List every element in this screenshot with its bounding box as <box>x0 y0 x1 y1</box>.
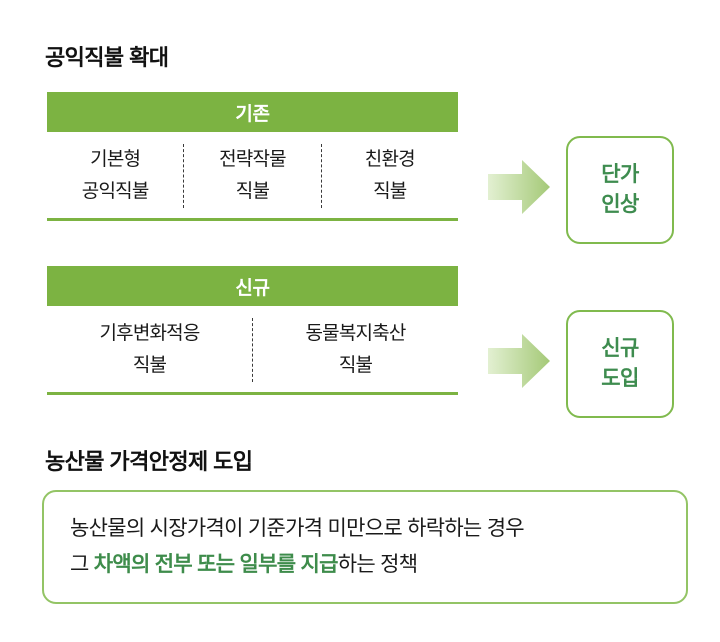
right-arrow-icon <box>488 158 550 216</box>
callout-line-2-pre: 그 <box>70 553 94 576</box>
right-arrow-icon <box>488 332 550 390</box>
group-existing-column-1: 기본형 공익직불 <box>47 144 183 208</box>
badge-line-1: 단가 <box>601 160 638 190</box>
callout-box: 농산물의 시장가격이 기준가격 미만으로 하락하는 경우 그 차액의 전부 또는… <box>42 490 688 604</box>
page-title-top: 공익직불 확대 <box>45 40 168 72</box>
callout-line-1: 농산물의 시장가격이 기준가격 미만으로 하락하는 경우 <box>70 511 686 547</box>
column-line-1: 친환경 <box>365 144 415 176</box>
group-existing-header: 기존 <box>47 92 458 132</box>
column-line-2: 직불 <box>373 176 406 208</box>
column-line-1: 전략작물 <box>219 144 286 176</box>
column-line-1: 기본형 <box>90 144 140 176</box>
callout-line-2-post: 하는 정책 <box>338 553 418 576</box>
group-new-column-2: 동물복지축산 직불 <box>252 318 458 382</box>
callout-line-2-emphasis: 차액의 전부 또는 일부를 지급 <box>94 553 338 576</box>
group-new-body: 기후변화적응 직불 동물복지축산 직불 <box>47 306 458 395</box>
column-line-1: 동물복지축산 <box>305 318 405 350</box>
infographic-page: 공익직불 확대 기존 기본형 공익직불 전략작물 직불 친환경 직불 <box>0 0 720 642</box>
column-line-2: 직불 <box>339 350 372 382</box>
group-existing-header-label: 기존 <box>235 99 269 126</box>
group-existing-column-2: 전략작물 직불 <box>183 144 320 208</box>
group-existing-body: 기본형 공익직불 전략작물 직불 친환경 직불 <box>47 132 458 221</box>
badge-line-2: 도입 <box>601 364 638 394</box>
group-new: 신규 기후변화적응 직불 동물복지축산 직불 <box>47 266 458 395</box>
group-new-header: 신규 <box>47 266 458 306</box>
badge-line-1: 신규 <box>601 334 638 364</box>
column-line-2: 직불 <box>133 350 166 382</box>
group-new-header-label: 신규 <box>235 273 269 300</box>
group-new-column-1: 기후변화적응 직불 <box>47 318 252 382</box>
badge-new-introduction: 신규 도입 <box>566 310 674 418</box>
page-title-bottom: 농산물 가격안정제 도입 <box>45 444 252 476</box>
column-line-2: 공익직불 <box>82 176 149 208</box>
badge-line-2: 인상 <box>601 190 638 220</box>
badge-price-increase: 단가 인상 <box>566 136 674 244</box>
group-existing-column-3: 친환경 직불 <box>321 144 458 208</box>
column-line-1: 기후변화적응 <box>99 318 199 350</box>
column-line-2: 직불 <box>236 176 269 208</box>
group-existing: 기존 기본형 공익직불 전략작물 직불 친환경 직불 <box>47 92 458 221</box>
callout-line-2: 그 차액의 전부 또는 일부를 지급하는 정책 <box>70 547 686 583</box>
